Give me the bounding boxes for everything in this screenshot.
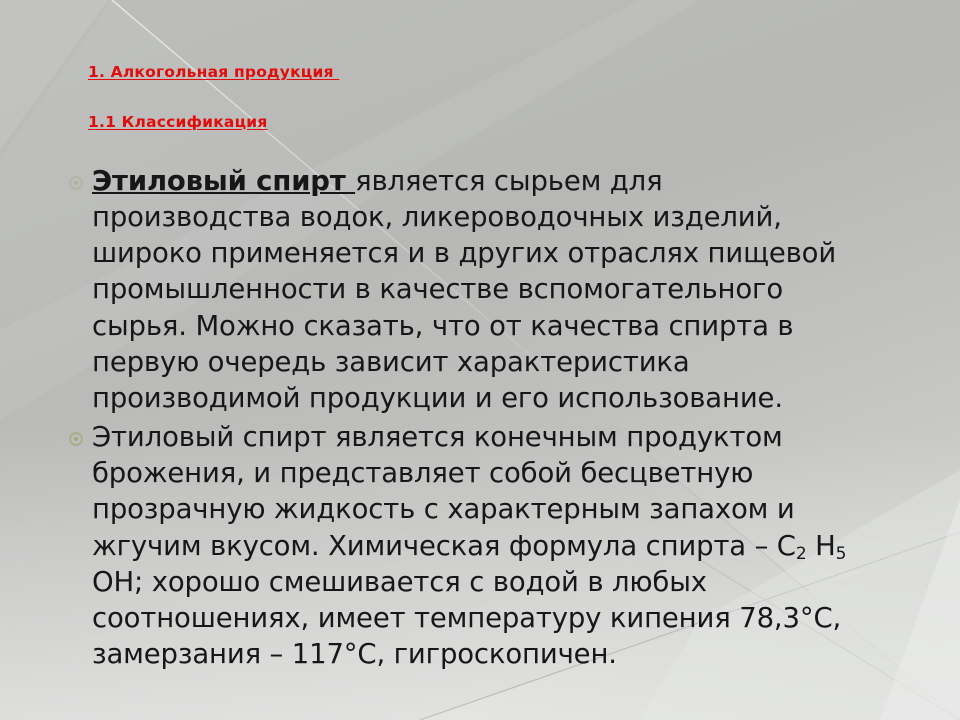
heading-subsection-wrap: 1.1 Классификация bbox=[88, 112, 788, 132]
ring-bullet-icon bbox=[69, 176, 83, 190]
bullet-list: Этиловый спирт является сырьем для произ… bbox=[60, 163, 940, 672]
bullet-marker-cell bbox=[60, 163, 92, 190]
heading-section-wrap: 1. Алкогольная продукция bbox=[88, 62, 788, 82]
bullet-2-part3: OH; хорошо смешивается с водой в любых с… bbox=[92, 566, 841, 670]
bullet-1-body: является сырьем для производства водок, … bbox=[92, 165, 836, 414]
slide-content: 1. Алкогольная продукция 1.1 Классификац… bbox=[0, 0, 960, 720]
formula-subscript-5: 5 bbox=[836, 544, 847, 564]
bullet-1-lead-term: Этиловый спирт bbox=[92, 165, 355, 197]
bullet-marker-cell bbox=[60, 419, 92, 446]
bullet-text-1: Этиловый спирт является сырьем для произ… bbox=[92, 163, 940, 416]
heading-section: 1. Алкогольная продукция bbox=[88, 63, 339, 82]
bullet-text-2: Этиловый спирт является конечным продукт… bbox=[92, 419, 940, 672]
list-item: Этиловый спирт является сырьем для произ… bbox=[60, 163, 940, 416]
heading-subsection: 1.1 Классификация bbox=[88, 113, 268, 132]
presentation-slide: 1. Алкогольная продукция 1.1 Классификац… bbox=[0, 0, 960, 720]
formula-subscript-2: 2 bbox=[796, 544, 807, 564]
ring-bullet-icon bbox=[69, 432, 83, 446]
bullet-2-part2: H bbox=[807, 530, 836, 562]
list-item: Этиловый спирт является конечным продукт… bbox=[60, 419, 940, 672]
bullet-2-part1: Этиловый спирт является конечным продукт… bbox=[92, 421, 796, 561]
slide-headings: 1. Алкогольная продукция 1.1 Классификац… bbox=[88, 62, 788, 131]
